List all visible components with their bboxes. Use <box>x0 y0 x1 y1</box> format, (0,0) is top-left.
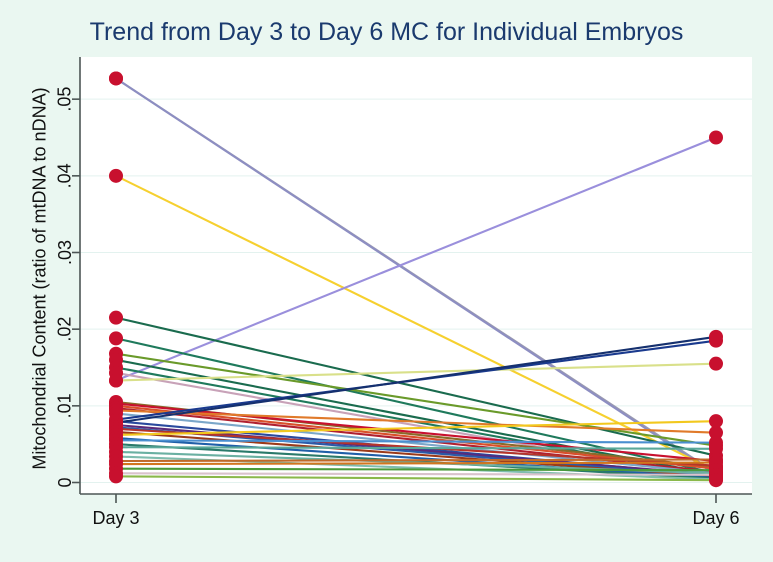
data-point-marker <box>709 473 723 487</box>
y-tick-label: 0 <box>55 477 75 487</box>
chart-container: Trend from Day 3 to Day 6 MC for Individ… <box>0 0 773 562</box>
data-point-marker <box>109 331 123 345</box>
data-point-marker <box>709 330 723 344</box>
data-point-marker <box>109 311 123 325</box>
data-point-marker <box>109 469 123 483</box>
y-tick-label: .04 <box>55 163 75 188</box>
x-tick-label-day-3: Day 3 <box>92 508 139 528</box>
data-point-marker <box>109 71 123 85</box>
data-point-marker <box>709 414 723 428</box>
y-tick-label: .05 <box>55 87 75 112</box>
data-point-marker <box>709 131 723 145</box>
x-tick-label-day-6: Day 6 <box>692 508 739 528</box>
x-axis-ticks: Day 3Day 6 <box>92 494 739 528</box>
y-tick-label: .03 <box>55 240 75 265</box>
y-axis-ticks: 0.01.02.03.04.05 <box>55 87 80 488</box>
data-point-marker <box>709 357 723 371</box>
data-point-marker <box>109 374 123 388</box>
data-point-marker <box>109 169 123 183</box>
y-tick-label: .02 <box>55 317 75 342</box>
plot-svg: 0.01.02.03.04.05 Day 3Day 6 <box>0 0 773 562</box>
y-tick-label: .01 <box>55 393 75 418</box>
